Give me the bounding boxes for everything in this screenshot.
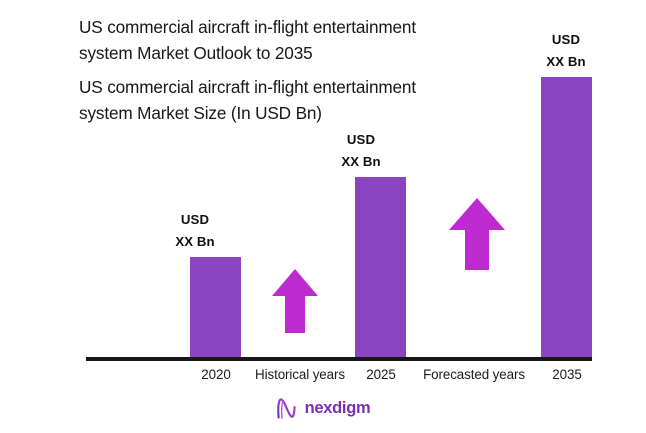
brand-logo: nexdigm [0, 398, 646, 419]
bar-2020 [190, 257, 241, 357]
x-axis-line [86, 357, 592, 361]
bar-2025 [355, 177, 406, 357]
x-axis-label-historical-years: Historical years [243, 367, 357, 382]
nexdigm-n-icon [276, 398, 298, 419]
bar-value-label-2020-currency: USD [150, 209, 240, 231]
growth-arrow-forecast-icon [449, 198, 505, 270]
x-axis-label-forecasted-years: Forecasted years [412, 367, 536, 382]
bar-value-label-2020-amount: XX Bn [150, 231, 240, 253]
x-axis-label-2025: 2025 [341, 367, 421, 382]
brand-wordmark: nexdigm [305, 399, 371, 418]
bar-value-label-2035: USD XX Bn [521, 29, 611, 73]
bar-value-label-2020: USD XX Bn [150, 209, 240, 253]
bar-chart-plot-area: USD XX Bn USD XX Bn USD XX Bn 2020 Histo… [0, 0, 646, 433]
bar-value-label-2025-amount: XX Bn [316, 151, 406, 173]
bar-value-label-2025: USD XX Bn [316, 129, 406, 173]
bar-value-label-2025-currency: USD [316, 129, 406, 151]
bar-2035 [541, 77, 592, 357]
x-axis-label-2035: 2035 [527, 367, 607, 382]
bar-value-label-2035-amount: XX Bn [521, 51, 611, 73]
growth-arrow-historical-icon [272, 269, 318, 333]
bar-value-label-2035-currency: USD [521, 29, 611, 51]
